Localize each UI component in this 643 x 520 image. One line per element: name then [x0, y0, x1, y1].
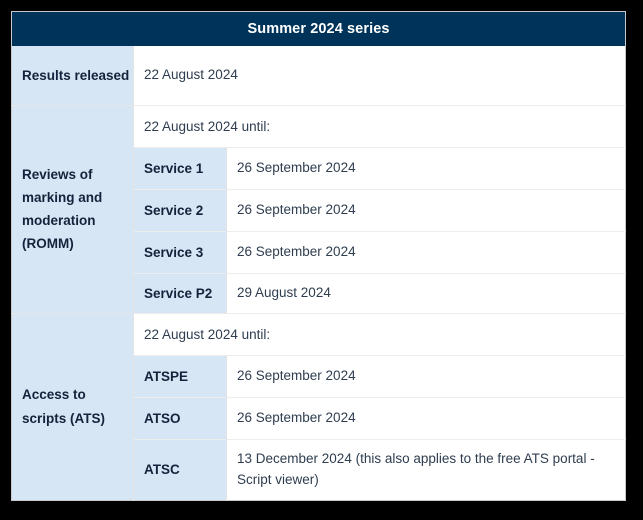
romm-intro: 22 August 2024 until: — [134, 105, 626, 147]
section-label-results-released: Results released — [12, 46, 134, 105]
romm-service-2-label: Service 2 — [134, 189, 227, 231]
ats-atso-value: 26 September 2024 — [227, 397, 626, 439]
exam-timetable-table: Summer 2024 series Results released 22 A… — [11, 11, 626, 501]
romm-service-2-value: 26 September 2024 — [227, 189, 626, 231]
section-label-romm: Reviews of marking and moderation (ROMM) — [12, 105, 134, 313]
ats-atspe-label: ATSPE — [134, 355, 227, 397]
ats-atsc-value: 13 December 2024 (this also applies to t… — [227, 439, 626, 500]
romm-service-p2-label: Service P2 — [134, 273, 227, 313]
ats-atsc-label: ATSC — [134, 439, 227, 500]
section-label-ats: Access to scripts (ATS) — [12, 313, 134, 500]
table-row: Access to scripts (ATS) 22 August 2024 u… — [12, 313, 626, 355]
page-root: Summer 2024 series Results released 22 A… — [0, 0, 643, 520]
romm-service-p2-value: 29 August 2024 — [227, 273, 626, 313]
romm-service-3-value: 26 September 2024 — [227, 231, 626, 273]
ats-atspe-value: 26 September 2024 — [227, 355, 626, 397]
ats-atso-label: ATSO — [134, 397, 227, 439]
table-row: Results released 22 August 2024 — [12, 46, 626, 105]
table-row: Reviews of marking and moderation (ROMM)… — [12, 105, 626, 147]
romm-service-1-label: Service 1 — [134, 147, 227, 189]
romm-service-3-label: Service 3 — [134, 231, 227, 273]
series-title: Summer 2024 series — [12, 12, 626, 47]
romm-service-1-value: 26 September 2024 — [227, 147, 626, 189]
table-header-row: Summer 2024 series — [12, 12, 626, 47]
results-released-value: 22 August 2024 — [134, 46, 626, 105]
ats-intro: 22 August 2024 until: — [134, 313, 626, 355]
